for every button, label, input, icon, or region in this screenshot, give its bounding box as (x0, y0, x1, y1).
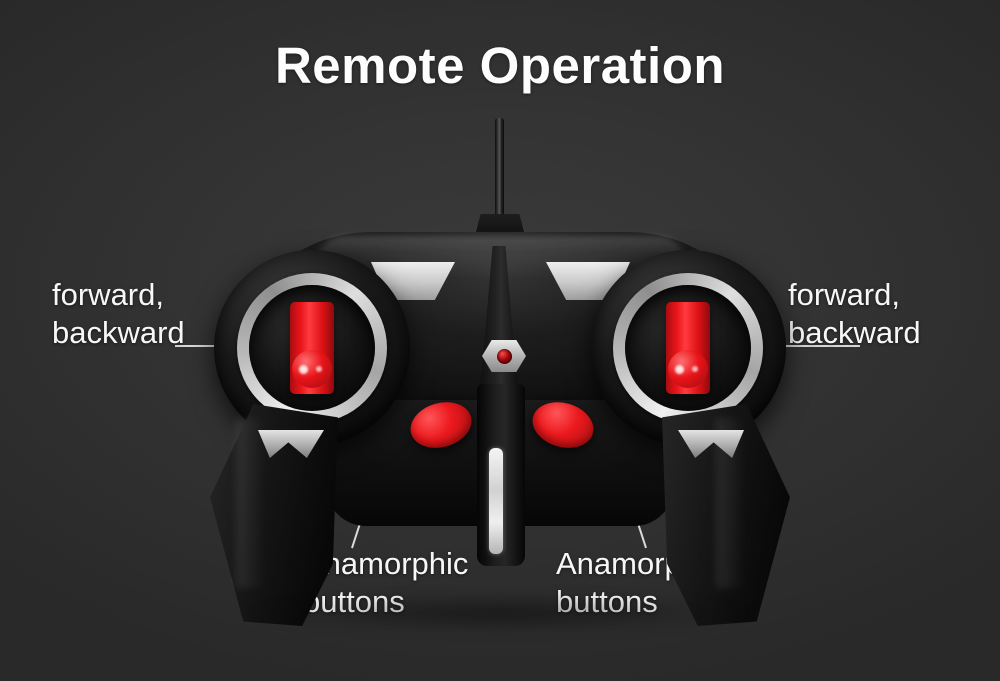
callout-right-stick: forward, backward (788, 276, 921, 352)
callout-left-stick: forward, backward (52, 276, 185, 352)
left-lever-highlight (299, 365, 308, 374)
infographic-canvas: Remote Operation forward, backward forwa… (0, 0, 1000, 681)
right-lever-highlight-2 (692, 366, 698, 372)
power-indicator-led (497, 349, 512, 364)
rc-remote-controller (196, 118, 804, 628)
right-lever-knob (668, 350, 708, 388)
left-lever-highlight-2 (316, 366, 322, 372)
right-throttle-lever[interactable] (666, 302, 710, 394)
page-title: Remote Operation (0, 36, 1000, 95)
left-lever-knob (292, 350, 332, 388)
left-throttle-lever[interactable] (290, 302, 334, 394)
center-silver-strip (489, 448, 503, 554)
right-lever-highlight (675, 365, 684, 374)
antenna (495, 118, 504, 218)
controller-drop-shadow (150, 586, 850, 640)
left-grip-highlight (236, 418, 266, 588)
